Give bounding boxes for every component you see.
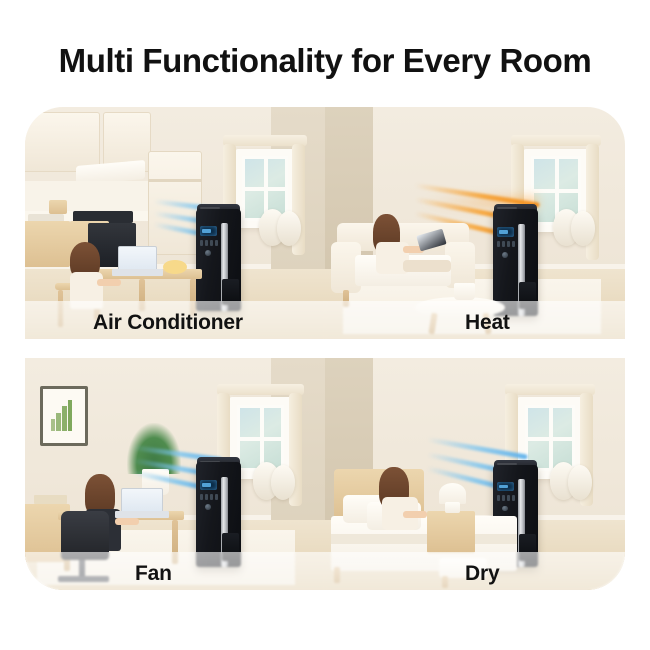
scene-grid: Air Conditioner — [25, 107, 625, 590]
framed-artwork — [40, 386, 88, 446]
cabinet-lower-left — [25, 221, 70, 267]
page-title: Multi Functionality for Every Room — [0, 42, 650, 80]
laptop-base — [115, 511, 169, 518]
exhaust-hose-2 — [271, 465, 295, 500]
unit-buttons[interactable] — [200, 240, 218, 246]
label-band — [25, 552, 325, 590]
exhaust-hose-2 — [571, 211, 595, 246]
mode-label-fan: Fan — [135, 562, 172, 586]
mode-label-air-conditioner: Air Conditioner — [93, 311, 243, 335]
nightstand — [427, 511, 475, 553]
panel-fan[interactable]: Fan — [25, 358, 325, 590]
backsplash — [25, 181, 154, 213]
unit-display — [497, 482, 514, 491]
canister — [49, 200, 67, 214]
laptop-screen — [121, 488, 163, 514]
lamp-base — [445, 502, 460, 514]
unit-display — [200, 226, 217, 235]
window-glass — [237, 405, 285, 472]
unit-display — [497, 227, 514, 237]
unit-power-knob[interactable] — [502, 252, 508, 258]
scene-row-bottom: Fan — [25, 358, 625, 590]
exhaust-hose-2 — [277, 211, 301, 246]
laptop-screen — [118, 246, 157, 272]
coffee-cup — [454, 283, 475, 299]
unit-buttons[interactable] — [497, 241, 515, 247]
mode-label-heat: Heat — [465, 311, 510, 335]
mode-label-dry: Dry — [465, 562, 499, 586]
cabinet-upper-left — [25, 112, 100, 172]
product-feature-graphic: Multi Functionality for Every Room — [0, 0, 650, 650]
person-arm — [403, 511, 427, 518]
refrigerator-divider — [148, 179, 202, 182]
person-arm — [97, 279, 121, 286]
panel-air-conditioner[interactable]: Air Conditioner — [25, 107, 325, 339]
bed-blanket-fold — [331, 534, 517, 543]
panel-heat[interactable]: Heat — [325, 107, 625, 339]
refrigerator — [148, 151, 202, 255]
laptop-base — [112, 269, 163, 276]
unit-buttons[interactable] — [497, 495, 515, 501]
exhaust-hose-2 — [568, 465, 592, 500]
book-stack — [34, 495, 67, 504]
fruit-bowl — [163, 260, 187, 274]
unit-display — [200, 480, 217, 489]
portable-ac-unit[interactable] — [493, 209, 538, 316]
scene-row-top: Air Conditioner — [25, 107, 625, 339]
person-legs — [403, 260, 451, 272]
panel-dry[interactable]: Dry — [325, 358, 625, 590]
person-arm — [115, 518, 139, 525]
unit-buttons[interactable] — [200, 494, 218, 500]
plant-foliage — [127, 423, 181, 474]
portable-ac-unit[interactable] — [196, 209, 241, 311]
unit-power-knob[interactable] — [205, 250, 211, 256]
